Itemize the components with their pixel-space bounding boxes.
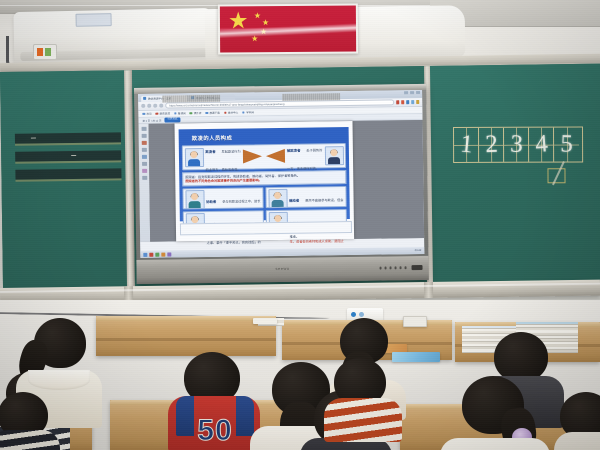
avatar-body	[328, 157, 340, 164]
browser-window[interactable]: 教学资源平台 - 主页 欺凌的人员构成.pptx	[138, 90, 424, 258]
avatar-head	[330, 149, 337, 156]
avatar-body	[188, 159, 200, 166]
browser-nav-buttons[interactable]	[141, 104, 163, 108]
bookmark-icon	[156, 112, 159, 115]
shape-icon[interactable]	[142, 162, 147, 166]
bookmark-3-label: 备课网	[178, 111, 186, 115]
minimize-icon[interactable]	[404, 91, 408, 94]
chalk-number-1: 1	[453, 129, 481, 161]
extension-icon-3[interactable]	[406, 100, 410, 104]
open-with-button[interactable]: 打开方式	[164, 118, 180, 123]
taskbar-app-icon-2[interactable]	[155, 252, 159, 256]
student-torso	[0, 430, 60, 450]
desk-rail	[96, 338, 276, 341]
student-boy-jersey: 50	[168, 352, 260, 450]
student-torso	[554, 432, 600, 450]
flag-field: ★ ★ ★ ★ ★	[220, 6, 356, 53]
taskbar-app-icon-3[interactable]	[161, 252, 165, 256]
bookmark-2[interactable]: 教育资源	[156, 112, 170, 116]
forward-icon[interactable]	[147, 104, 151, 108]
stamp-icon[interactable]	[142, 169, 147, 173]
home-button[interactable]	[404, 266, 407, 269]
extension-icon-4[interactable]	[411, 100, 415, 104]
air-conditioner-body-right	[340, 5, 466, 58]
maximize-icon[interactable]	[410, 91, 414, 94]
instigator-avatar	[268, 189, 287, 208]
assistant-avatar	[185, 190, 204, 209]
page-indicator: 第 3 页 / 共 12 页	[142, 118, 161, 122]
victim-role-label: 被欺凌者	[287, 147, 301, 152]
extension-icon-2[interactable]	[401, 100, 405, 104]
close-icon[interactable]	[416, 91, 420, 94]
avatar-head	[191, 193, 198, 200]
bookmark-4[interactable]: 课件库	[190, 111, 202, 115]
back-icon[interactable]	[141, 104, 145, 108]
role-cell-instigator: 煽动者 虽然不直接参与欺凌，但会在旁边围观、起哄，成为一定程度的助推者。	[265, 186, 346, 208]
slide-top-row: 欺凌者 发起欺凌行为的主导方，具有攻击性。 被欺凌者	[182, 143, 346, 170]
taskbar-app-icon-1[interactable]	[149, 252, 153, 256]
more-icon[interactable]	[142, 176, 147, 180]
avatar-body	[189, 201, 201, 208]
student-collar	[28, 370, 90, 390]
student-girl-scrunchie	[440, 376, 550, 450]
bookmark-1-label: 常用	[146, 112, 151, 116]
document-pane[interactable]: 欺凌的人员构成 欺	[149, 120, 425, 242]
bully-avatar	[184, 148, 203, 167]
highlight-icon[interactable]	[141, 141, 146, 145]
outline-icon[interactable]	[141, 134, 146, 138]
extension-icon-1[interactable]	[396, 101, 400, 105]
whiteboard-brand-label: seewo	[275, 266, 289, 271]
browser-content-area[interactable]: 欺凌的人员构成 欺	[139, 120, 425, 242]
desk-back-left	[96, 316, 276, 356]
role-cell-assistant: 协助者 参与到欺凌过程之中，助长欺凌行为的发生、传播、扩散。	[182, 187, 263, 209]
volume-down-button[interactable]	[384, 266, 387, 269]
note-icon[interactable]	[141, 148, 146, 152]
presentation-slide: 欺凌的人员构成 欺	[179, 127, 350, 221]
assistant-role-label: 协助者	[206, 199, 216, 204]
paper-sheet-2	[253, 318, 277, 324]
flag-small-star-2: ★	[262, 19, 269, 27]
system-tray[interactable]: 09:42	[415, 249, 422, 252]
victim-text: 被欺凌者 处于弱势的一方，无法进行对抗。	[287, 138, 323, 174]
jersey-number: 50	[190, 414, 240, 448]
wall-switch-plate[interactable]	[33, 44, 57, 60]
interactive-whiteboard[interactable]: 教学资源平台 - 主页 欺凌的人员构成.pptx	[134, 84, 429, 284]
bookmark-icon	[142, 113, 145, 116]
classroom-photo: ★ ★ ★ ★ ★	[0, 0, 600, 450]
ac-label	[75, 13, 111, 27]
avatar-head	[274, 192, 281, 199]
bowtie-arrow-graphic	[243, 149, 285, 165]
avatar-head	[190, 151, 197, 158]
chalk-number-4: 4	[528, 129, 555, 161]
avatar-body	[272, 200, 284, 207]
bookmark-icon	[190, 112, 193, 115]
thumbnail-icon[interactable]	[141, 127, 146, 131]
speaker-grille-left	[162, 95, 220, 103]
chalk-writing-grid: 1 2 3 4 5	[453, 127, 583, 163]
student-head	[494, 332, 548, 382]
speaker-grille-right	[282, 93, 340, 101]
favicon-icon	[143, 97, 146, 100]
reload-icon[interactable]	[153, 104, 157, 108]
student-torso	[324, 398, 402, 442]
flag-small-star-1: ★	[254, 12, 261, 20]
whiteboard-control-buttons[interactable]	[379, 266, 407, 269]
chalk-number-2: 2	[479, 129, 505, 160]
victim-avatar	[324, 146, 343, 165]
bookmark-5[interactable]: 教案下载	[205, 111, 219, 115]
student-far-right-partial	[560, 392, 600, 450]
volume-up-button[interactable]	[389, 266, 392, 269]
chalk-number-3: 3	[503, 129, 529, 160]
bookmark-icon	[242, 111, 245, 114]
arrow-left-triangle	[243, 149, 262, 163]
ledge-post-right	[424, 282, 433, 298]
bookmark-1[interactable]: 常用	[142, 112, 151, 116]
bookmark-7-label: 学科网	[246, 110, 254, 114]
menu-button[interactable]	[399, 266, 402, 269]
slide-page[interactable]: 欺凌的人员构成 欺	[174, 121, 354, 241]
desk-surface	[96, 316, 276, 321]
bookmark-5-label: 教案下载	[209, 111, 219, 115]
browser-extension-icons[interactable]	[396, 100, 420, 104]
student-far-left-partial	[0, 392, 60, 450]
taskbar-app-icon-4[interactable]	[167, 252, 171, 256]
bookmark-6[interactable]: 素材中心	[224, 111, 238, 115]
bully-text: 欺凌者 发起欺凌行为的主导方，具有攻击性。	[205, 139, 241, 175]
source-button[interactable]	[394, 266, 397, 269]
whiteboard-screen[interactable]: 教学资源平台 - 主页 欺凌的人员构成.pptx	[138, 90, 424, 258]
bookmark-4-label: 课件库	[194, 111, 202, 115]
student-boy-striped	[324, 358, 402, 428]
bookmark-icon	[205, 112, 208, 115]
slide-footer-strip	[180, 221, 352, 235]
bully-role-label: 欺凌者	[205, 148, 215, 153]
bookmark-icon	[224, 111, 227, 114]
whiteboard-bottom-bezel[interactable]: seewo	[136, 256, 428, 284]
bookmark-icon	[174, 112, 177, 115]
chalk-number-5: 5	[554, 129, 580, 160]
ir-sensor	[412, 265, 423, 270]
chinese-national-flag: ★ ★ ★ ★ ★	[218, 4, 358, 55]
arrow-right-triangle	[266, 149, 285, 163]
bookmark-2-label: 教育资源	[160, 112, 170, 116]
bookmark-7[interactable]: 学科网	[242, 110, 254, 114]
extension-icon-5[interactable]	[416, 100, 420, 104]
bookmark-3[interactable]: 备课网	[174, 111, 186, 115]
clock: 09:42	[415, 249, 422, 252]
start-icon[interactable]	[143, 252, 147, 256]
instigator-role-label: 煽动者	[289, 198, 299, 203]
power-button[interactable]	[379, 267, 382, 270]
home-icon[interactable]	[159, 104, 163, 108]
pen-icon[interactable]	[141, 155, 146, 159]
bookmark-6-label: 素材中心	[228, 111, 238, 115]
student-torso	[440, 438, 550, 450]
window-controls[interactable]	[404, 91, 420, 94]
